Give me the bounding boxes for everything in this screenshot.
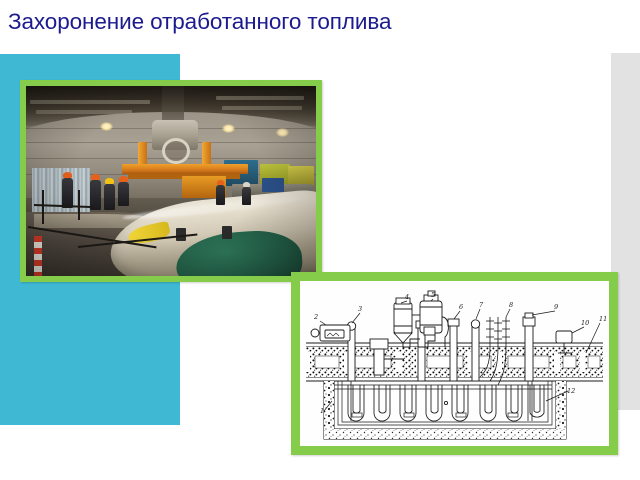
diagram-callout-3: 3 <box>358 305 362 313</box>
diagram-callout-2: 2 <box>313 313 318 321</box>
diagram-callout-5: 5 <box>431 291 435 299</box>
diagram-callout-6: 6 <box>459 303 463 311</box>
diagram-image: 1 2 3 4 5 6 7 8 9 10 11 12 <box>300 281 609 446</box>
photo-vignette <box>26 86 316 276</box>
diagram-callout-8: 8 <box>509 301 513 309</box>
photo-frame[interactable] <box>20 80 322 282</box>
photo-image <box>26 86 316 276</box>
diagram-callout-10: 10 <box>581 319 589 327</box>
diagram-callout-4: 4 <box>404 293 409 301</box>
photo-scene <box>26 86 316 276</box>
page-title: Захоронение отработанного топлива <box>8 7 608 37</box>
slide-canvas: Захоронение отработанного топлива <box>0 0 640 480</box>
diagram-callout-12: 12 <box>567 387 575 395</box>
diagram-callout-11: 11 <box>599 315 607 323</box>
diagram-callout-1: 1 <box>320 407 324 415</box>
diagram-frame[interactable]: 1 2 3 4 5 6 7 8 9 10 11 12 <box>291 272 618 455</box>
storage-cross-section-drawing: 1 2 3 4 5 6 7 8 9 10 11 12 <box>300 281 609 446</box>
diagram-callout-9: 9 <box>554 303 558 311</box>
